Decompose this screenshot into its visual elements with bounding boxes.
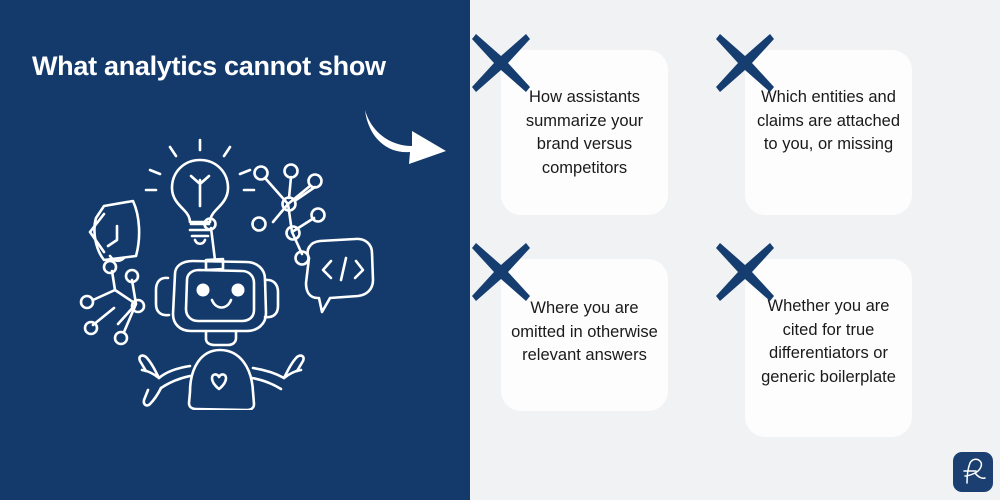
- left-navy-panel: What analytics cannot show: [0, 0, 470, 500]
- card-surface[interactable]: Whether you are cited for true different…: [745, 259, 912, 437]
- page-title: What analytics cannot show: [32, 51, 444, 82]
- brand-logo[interactable]: [953, 452, 993, 492]
- card-surface[interactable]: How assistants summarize your brand vers…: [501, 50, 668, 215]
- lightbulb-icon: [146, 140, 254, 244]
- clock-tag-icon: [90, 201, 139, 261]
- robot-illustration: [60, 128, 380, 410]
- card-surface[interactable]: Where you are omitted in otherwise relev…: [501, 259, 668, 411]
- card-label: Whether you are cited for true different…: [745, 295, 912, 389]
- slide-canvas: What analytics cannot show: [0, 0, 1000, 500]
- network-graph-icon-right: [253, 165, 325, 265]
- network-graph-icon-left: [81, 261, 144, 344]
- card-label: Where you are omitted in otherwise relev…: [501, 297, 668, 368]
- robot-figure: [139, 219, 303, 411]
- card-surface[interactable]: Which entities and claims are attached t…: [745, 50, 912, 215]
- card-label: Which entities and claims are attached t…: [745, 86, 912, 157]
- code-speech-bubble-icon: [306, 239, 373, 312]
- card-label: How assistants summarize your brand vers…: [501, 86, 668, 180]
- right-cards-panel: How assistants summarize your brand vers…: [470, 0, 1000, 500]
- brand-monogram-icon: [953, 452, 993, 492]
